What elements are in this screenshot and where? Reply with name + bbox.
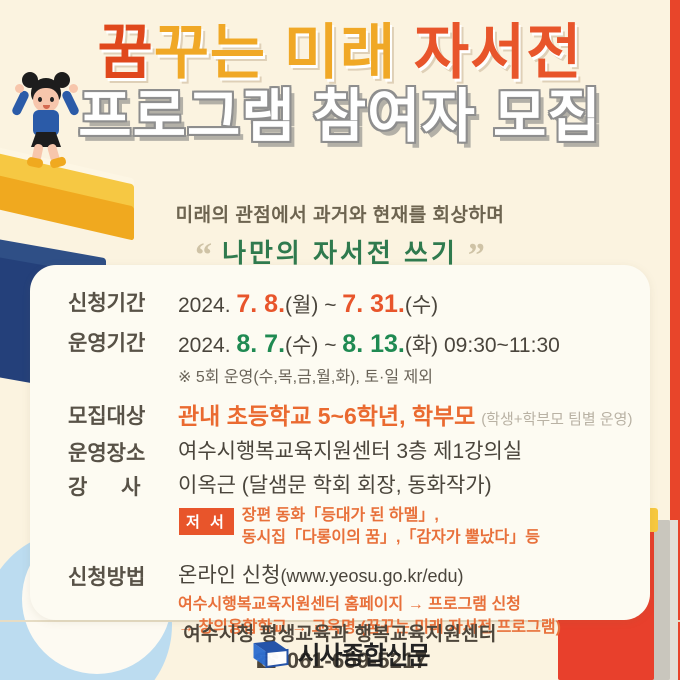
information-card: 신청기간 2024. 7. 8.(월) ~ 7. 31.(수) 운영기간 202… <box>30 265 650 620</box>
value-how-to-apply: 온라인 신청(www.yeosu.go.kr/edu) <box>178 559 561 591</box>
row-venue: 운영장소 여수시행복교육지원센터 3층 제1강의실 <box>68 435 638 467</box>
label-application-period: 신청기간 <box>68 285 178 317</box>
row-target-audience: 모집대상 관내 초등학교 5~6학년, 학부모 (학생+학부모 팀별 운영) <box>68 398 638 433</box>
app-period-mid: (월) ~ <box>285 294 342 317</box>
app-period-end: 7. 31. <box>342 290 405 318</box>
quote-open-icon: “ <box>185 237 222 274</box>
op-period-mid: (수) ~ <box>285 334 342 357</box>
row-application-period: 신청기간 2024. 7. 8.(월) ~ 7. 31.(수) <box>68 285 638 323</box>
book-title-line-2: 동시집「다롱이의 꿈」,「감자가 뿔났다」등 <box>242 529 540 546</box>
label-instructor: 강 사 <box>68 469 178 501</box>
apply-method: 온라인 신청 <box>178 564 280 587</box>
headline-block: 꿈꾸는 미래 자서전 프로그램 참여자 모집 <box>0 22 680 148</box>
target-audience-main: 관내 초등학교 5~6학년, 학부모 <box>178 403 475 429</box>
value-instructor: 이옥근 (달샘문 학회 회장, 동화작가) <box>178 469 540 501</box>
op-period-prefix: 2024. <box>178 334 236 357</box>
headline-word-autobiography: 자서전 <box>414 19 583 86</box>
instructor-books-row: 저 서 장편 동화「등대가 된 하멜」, 동시집「다롱이의 꿈」,「감자가 뿔났… <box>178 505 540 550</box>
app-period-prefix: 2024. <box>178 294 236 317</box>
headline-word-kkum: 꿈 <box>98 19 154 86</box>
label-how-to-apply: 신청방법 <box>68 559 178 591</box>
information-rows: 신청기간 2024. 7. 8.(월) ~ 7. 31.(수) 운영기간 202… <box>68 285 638 641</box>
poster-canvas: 꿈꾸는 미래 자서전 프로그램 참여자 모집 미래의 관점에서 과거와 현재를 … <box>0 0 680 680</box>
label-venue: 운영장소 <box>68 435 178 467</box>
apply-path-line-1: 여수시행복교육지원센터 홈페이지 → 프로그램 신청 <box>178 596 521 613</box>
app-period-start: 7. 8. <box>236 290 285 318</box>
value-target-audience: 관내 초등학교 5~6학년, 학부모 (학생+학부모 팀별 운영) <box>178 398 632 433</box>
subtitle-main: 나만의 자서전 쓰기 <box>222 233 458 270</box>
headline-line-1: 꿈꾸는 미래 자서전 <box>0 22 680 83</box>
quote-close-icon: ” <box>458 237 495 274</box>
value-operating-period-wrap: 2024. 8. 7.(수) ~ 8. 13.(화) 09:30~11:30 ※… <box>178 325 560 397</box>
headline-line-2: 프로그램 참여자 모집 <box>0 87 680 148</box>
row-instructor: 강 사 이옥근 (달샘문 학회 회장, 동화작가) 저 서 장편 동화「등대가 … <box>68 469 638 550</box>
press-watermark: 시사종합신문 <box>250 636 429 672</box>
newspaper-logo-icon <box>250 637 290 671</box>
subtitle-block: 미래의 관점에서 과거와 현재를 회상하며 “나만의 자서전 쓰기” <box>0 200 680 275</box>
books-badge: 저 서 <box>179 508 234 535</box>
label-target-audience: 모집대상 <box>68 398 178 430</box>
subtitle-quote-row: “나만의 자서전 쓰기” <box>0 227 680 275</box>
headline-word-future: 꾸는 미래 <box>154 19 414 86</box>
op-period-end: 8. 13. <box>342 330 405 358</box>
value-operating-period: 2024. 8. 7.(수) ~ 8. 13.(화) 09:30~11:30 <box>178 325 560 363</box>
books-list: 장편 동화「등대가 된 하멜」, 동시집「다롱이의 꿈」,「감자가 뿔났다」등 <box>242 505 540 550</box>
target-audience-note: (학생+학부모 팀별 운영) <box>481 411 632 428</box>
op-period-suffix: (화) 09:30~11:30 <box>405 334 560 357</box>
apply-url[interactable]: (www.yeosu.go.kr/edu) <box>280 566 463 586</box>
operating-period-note: ※ 5회 운영(수,목,금,월,화), 토·일 제외 <box>178 363 560 387</box>
value-instructor-wrap: 이옥근 (달샘문 학회 회장, 동화작가) 저 서 장편 동화「등대가 된 하멜… <box>178 469 540 550</box>
app-period-suffix: (수) <box>405 294 438 317</box>
value-application-period: 2024. 7. 8.(월) ~ 7. 31.(수) <box>178 285 438 323</box>
op-period-start: 8. 7. <box>236 330 285 358</box>
book-title-line-1: 장편 동화「등대가 된 하멜」, <box>242 507 439 524</box>
value-venue: 여수시행복교육지원센터 3층 제1강의실 <box>178 435 522 467</box>
watermark-text: 시사종합신문 <box>297 636 429 672</box>
row-operating-period: 운영기간 2024. 8. 7.(수) ~ 8. 13.(화) 09:30~11… <box>68 325 638 397</box>
label-operating-period: 운영기간 <box>68 325 178 357</box>
subtitle-tagline: 미래의 관점에서 과거와 현재를 회상하며 <box>0 200 680 227</box>
